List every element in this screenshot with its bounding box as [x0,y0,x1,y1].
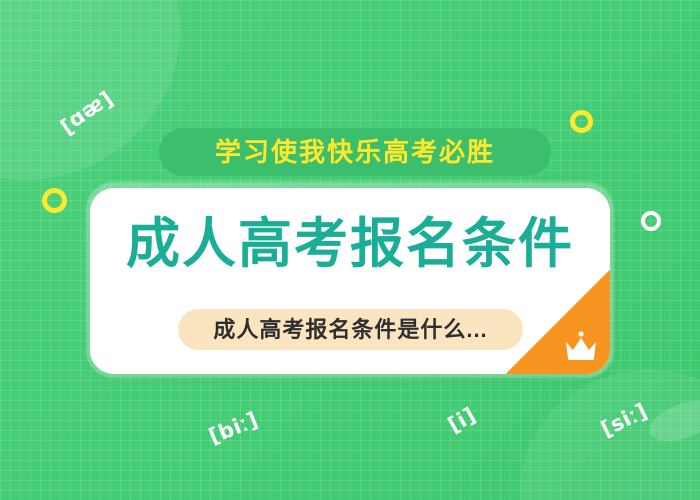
subtitle-text: 成人高考报名条件是什么... [213,319,487,341]
ring-yellow-top [570,110,593,133]
poster-canvas: [æɒ] [biː] [i] [siː] 学习使我快乐高考必胜 成人高考报名条件… [0,0,700,500]
crown-icon [564,331,598,361]
main-card: 成人高考报名条件 成人高考报名条件是什么... [90,188,610,374]
phonetic-bi: [biː] [205,407,261,448]
background-swoosh [644,393,700,449]
slogan-banner: 学习使我快乐高考必胜 [159,128,551,176]
page-title: 成人高考报名条件 [90,217,610,271]
ring-white-right [641,211,661,231]
phonetic-si: [siː] [597,399,651,442]
background-blob-top-left [0,0,180,180]
slogan-text: 学习使我快乐高考必胜 [215,139,495,165]
phonetic-ae: [æɒ] [56,87,117,140]
phonetic-i: [i] [444,403,480,438]
ring-yellow-left [42,188,67,213]
subtitle-pill: 成人高考报名条件是什么... [178,309,523,350]
corner-ribbon [506,270,610,374]
